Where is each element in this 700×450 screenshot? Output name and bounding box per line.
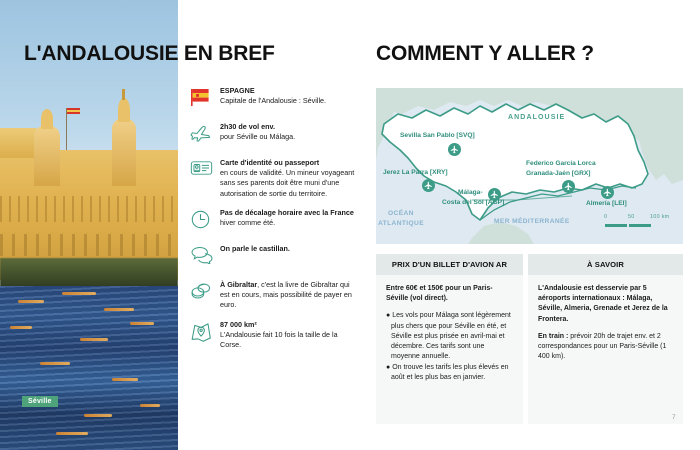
coins-icon [190, 280, 220, 307]
map-scale-mid: 50 [628, 214, 635, 220]
photo-boat [18, 300, 44, 303]
id-card-icon [190, 158, 220, 185]
fact-text: On parle le castillan. [220, 244, 290, 254]
fact-item-timezone: Pas de décalage horaire avec la France h… [190, 208, 360, 235]
clock-icon [190, 208, 220, 235]
price-lead: Entre 60€ et 150€ pour un Paris-Séville … [386, 284, 513, 304]
map-region-label: ANDALOUSIE [508, 114, 565, 121]
photo-boat [62, 292, 96, 295]
fact-heading: 2h30 de vol env. [220, 122, 295, 132]
info-box-price-body: Entre 60€ et 150€ pour un Paris-Séville … [376, 275, 523, 424]
page-title-right: COMMENT Y ALLER ? [376, 42, 594, 66]
map-airport-label-agp-line1: Málaga- [458, 189, 483, 196]
photo-boat [104, 308, 134, 311]
airplane-icon [190, 122, 220, 149]
fact-heading: On parle le castillan. [220, 244, 290, 254]
facts-list: ESPAGNE Capitale de l'Andalousie : Sévil… [190, 86, 360, 359]
photo-boat [140, 404, 160, 407]
info-box-know-body: L'Andalousie est desservie par 5 aéropor… [528, 275, 683, 424]
photo-tower-right [112, 118, 136, 186]
photo-flagpole [66, 108, 67, 150]
hero-photo: Séville [0, 0, 178, 450]
photo-boat [80, 338, 108, 341]
fact-heading: 87 000 km² [220, 320, 360, 330]
photo-boat [112, 378, 138, 381]
map-airport-label-grx-line1: Federico García Lorca [526, 160, 596, 167]
photo-boat [40, 362, 70, 365]
map-scale-max: 100 km [650, 214, 669, 220]
fact-heading: ESPAGNE [220, 86, 326, 96]
fact-item-id: Carte d'identité ou passeport en cours d… [190, 158, 360, 199]
know-train: En train : prévoir 20h de trajet env. et… [538, 332, 673, 363]
fact-text: 87 000 km² L'Andalousie fait 10 fois la … [220, 320, 360, 351]
map-mediterranean-label: MER MÉDITERRANÉE [494, 218, 570, 225]
fact-item-language: On parle le castillan. [190, 244, 360, 271]
fact-text: À Gibraltar, c'est la livre de Gibraltar… [220, 280, 360, 311]
airport-pin-agp[interactable] [488, 188, 501, 201]
price-bullet-1: ● Les vols pour Málaga sont légèrement p… [386, 311, 513, 362]
map-airport-label-xry: Jerez La Parra [XRY] [383, 169, 448, 176]
know-lead: L'Andalousie est desservie par 5 aéropor… [538, 284, 673, 325]
fact-item-espagne: ESPAGNE Capitale de l'Andalousie : Sévil… [190, 86, 360, 113]
scale-segment [629, 224, 651, 227]
info-box-price: PRIX D'UN BILLET D'AVION AR Entre 60€ et… [376, 254, 523, 414]
fact-heading: À Gibraltar [220, 280, 257, 289]
fact-item-area: 87 000 km² L'Andalousie fait 10 fois la … [190, 320, 360, 351]
fact-text: Pas de décalage horaire avec la France h… [220, 208, 354, 228]
fact-item-flight: 2h30 de vol env. pour Séville ou Málaga. [190, 122, 360, 149]
photo-boat [84, 414, 112, 417]
speech-bubbles-icon [190, 244, 220, 271]
fact-body: hiver comme été. [220, 218, 275, 227]
fact-item-currency: À Gibraltar, c'est la livre de Gibraltar… [190, 280, 360, 311]
map-airport-label-svq: Sevilla San Pablo [SVQ] [400, 132, 475, 139]
price-bullet-1-text: Les vols pour Málaga sont légèrement plu… [391, 312, 511, 360]
info-box-price-title: PRIX D'UN BILLET D'AVION AR [392, 260, 507, 269]
airport-pin-lei[interactable] [601, 186, 614, 199]
fact-text: Carte d'identité ou passeport en cours d… [220, 158, 360, 199]
spain-flag-icon [190, 86, 220, 113]
photo-water [0, 286, 178, 450]
fact-body: Capitale de l'Andalousie : Séville. [220, 96, 326, 105]
photo-arcade-upper [0, 196, 178, 222]
scale-segment [605, 224, 627, 227]
photo-spanish-flag [67, 108, 80, 114]
photo-boat [130, 322, 154, 325]
photo-arcade-lower [0, 234, 178, 256]
fact-body: L'Andalousie fait 10 fois la taille de l… [220, 330, 338, 349]
map-ocean-label-line2: ATLANTIQUE [378, 220, 424, 227]
map-ocean-label-line1: OCÉAN [388, 210, 414, 217]
photo-boat [10, 326, 32, 329]
airport-pin-svq[interactable] [448, 143, 461, 156]
page-title-left: L'ANDALOUSIE EN BREF [24, 42, 324, 66]
map-airport-label-lei: Almería [LEI] [586, 200, 627, 207]
info-box-know: À SAVOIR L'Andalousie est desservie par … [528, 254, 683, 414]
price-bullet-2: ● On trouve les tarifs les plus élevés e… [386, 363, 513, 383]
photo-tower-left [34, 126, 60, 186]
fact-heading: Pas de décalage horaire avec la France [220, 208, 354, 218]
fact-body: en cours de validité. Un mineur voyagean… [220, 168, 354, 197]
fact-heading: Carte d'identité ou passeport [220, 158, 360, 168]
fact-text: ESPAGNE Capitale de l'Andalousie : Sévil… [220, 86, 326, 106]
map-airport-label-grx-line2: Granada-Jaén [GRX] [526, 170, 591, 177]
airport-pin-grx[interactable] [562, 180, 575, 193]
photo-boat [56, 432, 88, 435]
page-root: Séville L'ANDALOUSIE EN BREF COMMENT Y A… [0, 0, 700, 450]
map-scale-bar [605, 224, 651, 227]
info-box-know-title: À SAVOIR [587, 260, 624, 269]
info-box-price-header: PRIX D'UN BILLET D'AVION AR [376, 254, 523, 275]
fact-text: 2h30 de vol env. pour Séville ou Málaga. [220, 122, 295, 142]
price-bullet-2-text: On trouve les tarifs les plus élevés en … [391, 364, 509, 381]
know-train-label: En train : [538, 333, 568, 340]
photo-caption: Séville [22, 396, 58, 407]
map-scale-zero: 0 [604, 214, 607, 220]
andalusia-map: ANDALOUSIE Sevilla San Pablo [SVQ] Feder… [376, 88, 683, 244]
photo-divider [178, 0, 181, 450]
fact-body: pour Séville ou Málaga. [220, 132, 295, 141]
airport-pin-xry[interactable] [422, 179, 435, 192]
info-box-know-header: À SAVOIR [528, 254, 683, 275]
map-pin-icon [190, 320, 220, 347]
page-number: 7 [672, 414, 676, 421]
